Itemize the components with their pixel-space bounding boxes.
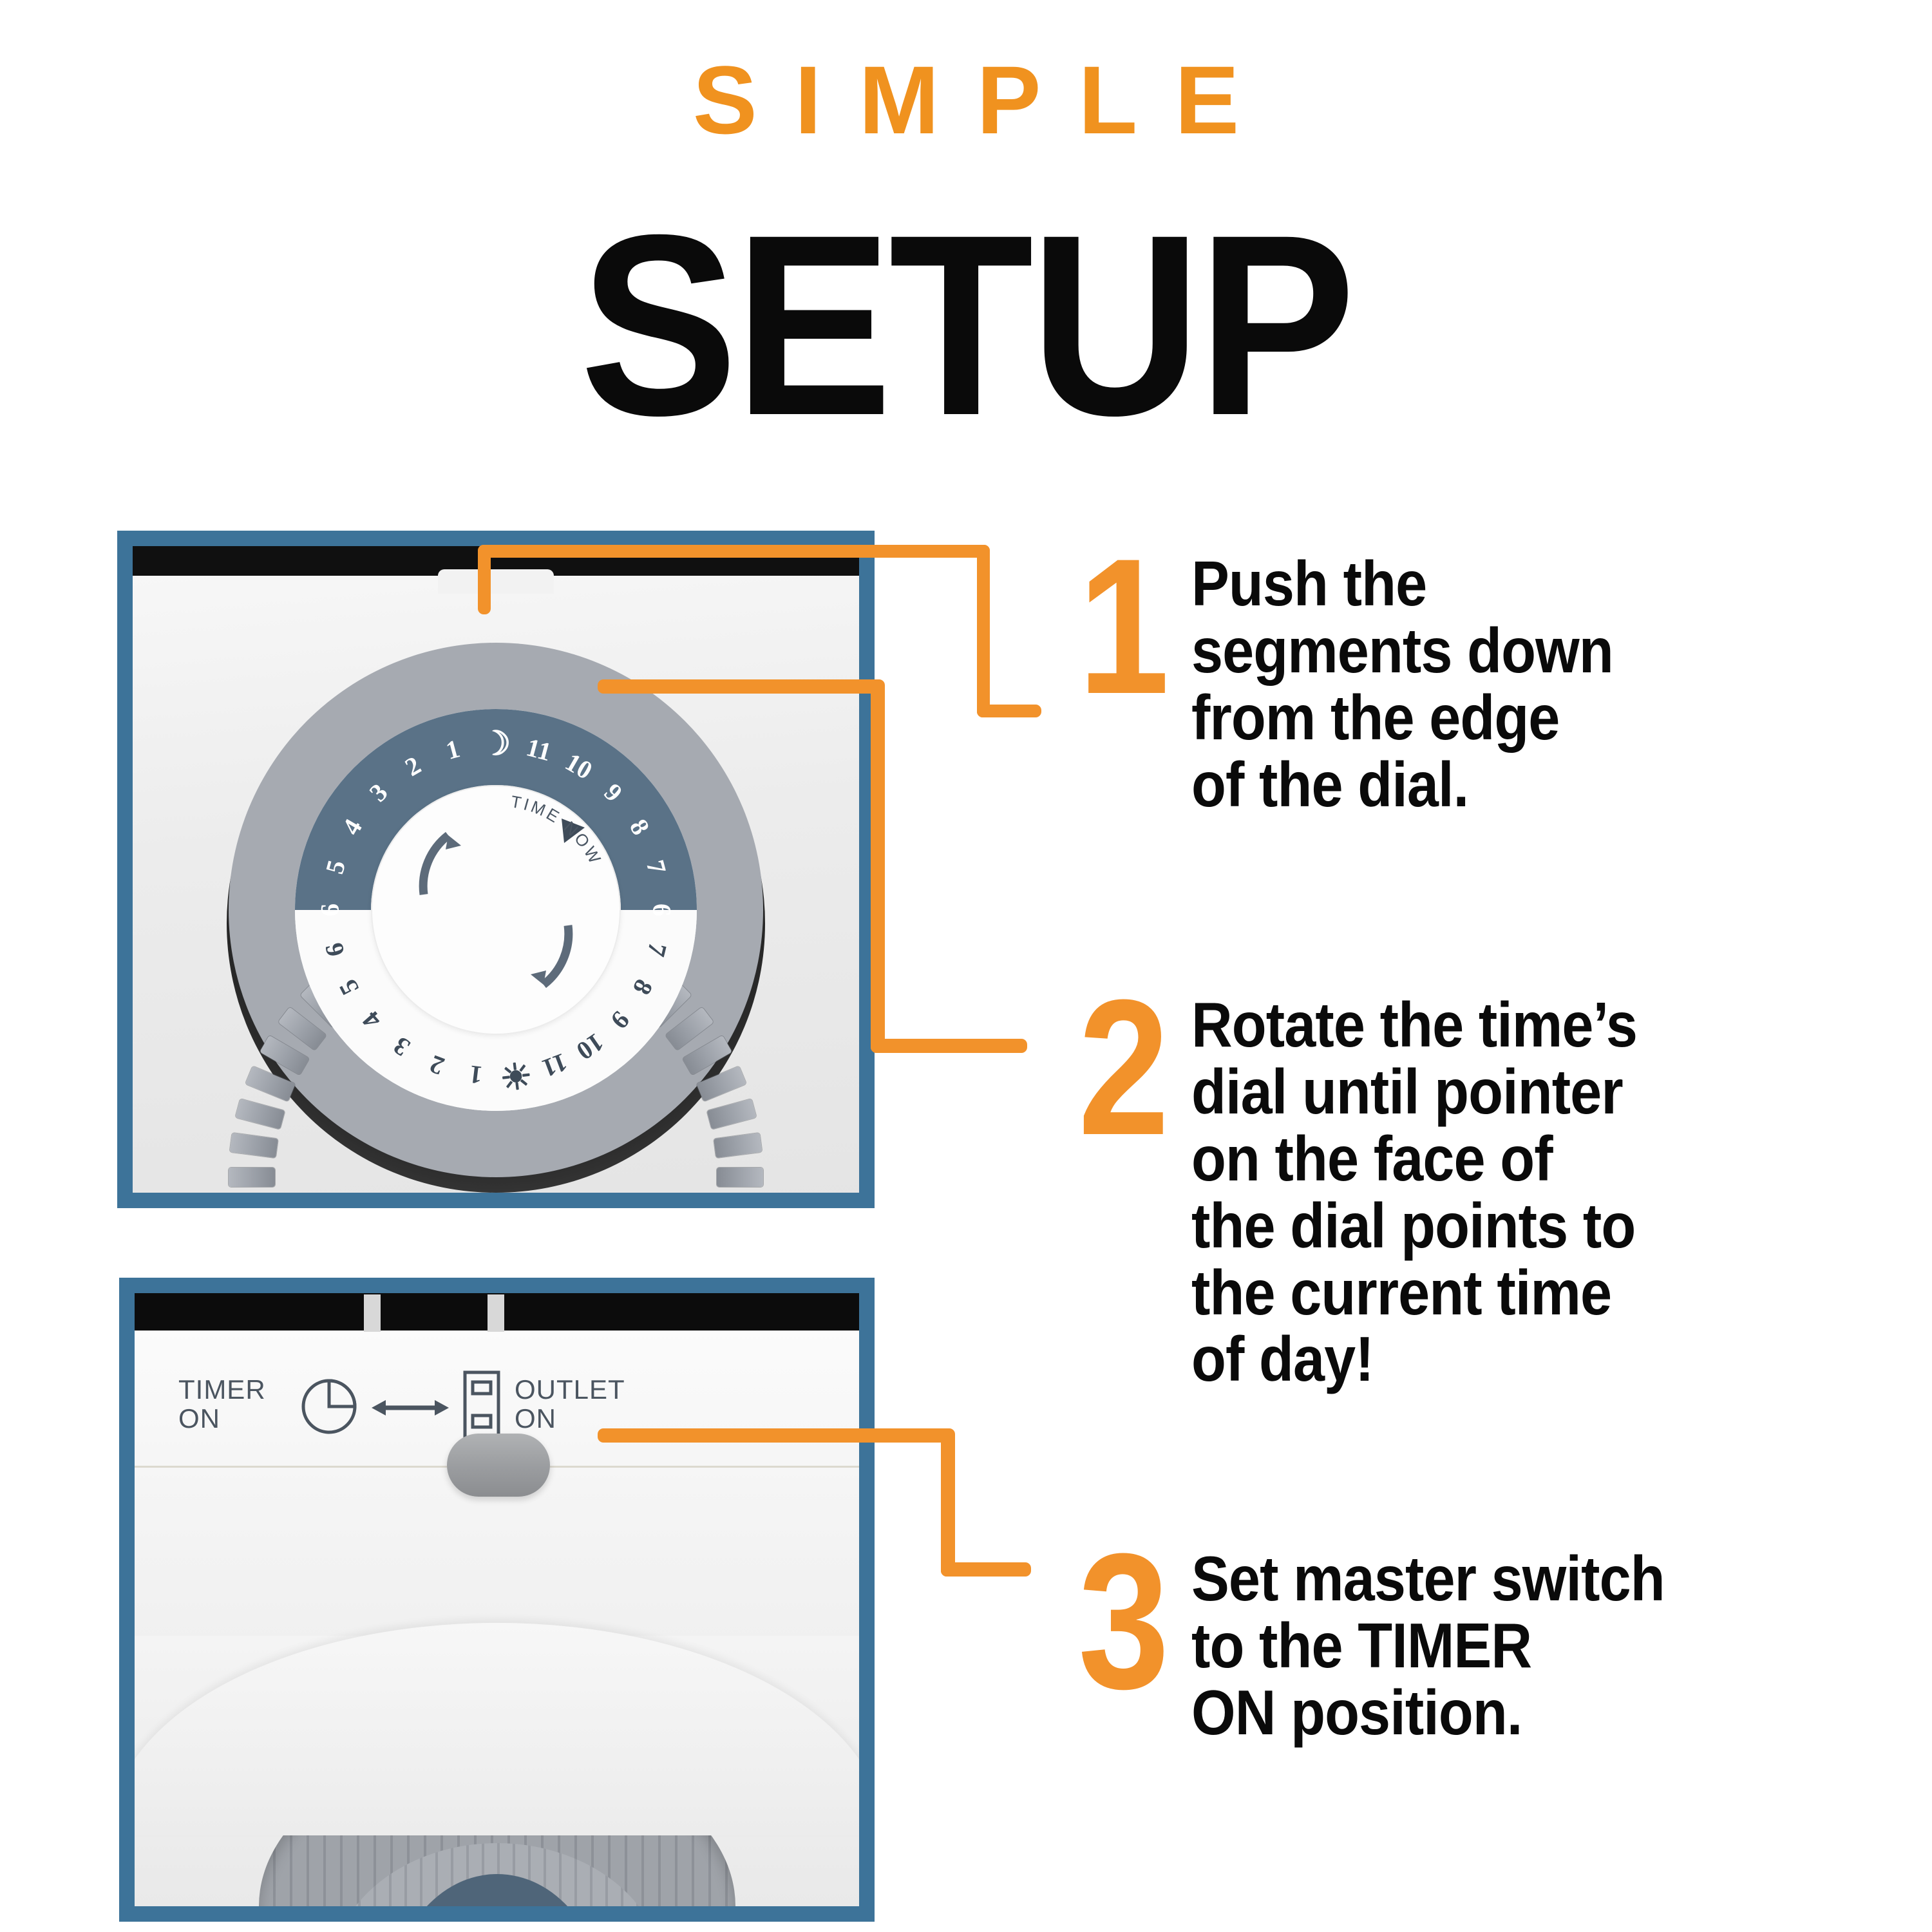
svg-text:TIME NOW: TIME NOW — [509, 791, 606, 869]
connector-3-horizontal-b — [941, 1562, 1031, 1577]
triangle-pointer-icon: TIME NOW — [371, 785, 621, 1035]
dial-hub[interactable]: TIME NOW TIME NOW — [371, 785, 621, 1035]
timer-clip-left — [364, 1294, 381, 1332]
photo-frame-switch: TIMER ON OUTLET ON 21☽1110 — [119, 1278, 875, 1922]
connector-2-horizontal-a — [598, 679, 884, 694]
header: SIMPLE SETUP — [0, 0, 1932, 444]
dial-hour-lower-11: 11 — [522, 1902, 551, 1906]
step-3-number: 3 — [1066, 1546, 1182, 1696]
step-2-number: 2 — [1066, 992, 1182, 1142]
photo-switch: TIMER ON OUTLET ON 21☽1110 — [135, 1293, 859, 1906]
photo-dial: 654321☽111098767891011☀123456 TIME NOW T… — [133, 546, 859, 1193]
moon-icon: ☽ — [481, 724, 511, 763]
connector-2-vertical — [871, 679, 885, 1053]
connector-3-horizontal-a — [598, 1428, 954, 1443]
moon-icon-lower: ☽ — [488, 1902, 509, 1906]
dial-hour-6: 6 — [647, 904, 677, 916]
connector-1-stub — [977, 705, 1041, 717]
timer-lower-housing: 21☽1110 — [135, 1636, 859, 1906]
connector-3-vertical — [941, 1428, 955, 1577]
dial-hour-6: 6 — [315, 904, 345, 916]
dial-face[interactable]: 654321☽111098767891011☀123456 TIME NOW T… — [295, 709, 697, 1111]
photo-frame-dial: 654321☽111098767891011☀123456 TIME NOW T… — [117, 531, 875, 1208]
step-1-text: Push the segments down from the edge of … — [1191, 551, 1613, 819]
sun-icon: ☀ — [497, 1052, 535, 1098]
step-1-number: 1 — [1066, 551, 1182, 701]
housing-hood — [135, 1623, 859, 1835]
outlet-icon — [462, 1369, 502, 1441]
step-1: 1 Push the segments down from the edge o… — [1056, 551, 1660, 819]
step-3: 3 Set master switch to the TIMER ON posi… — [1056, 1546, 1717, 1747]
page-title: SETUP — [77, 196, 1855, 454]
connector-2-horizontal-b — [871, 1039, 1027, 1053]
double-arrow-icon — [370, 1395, 450, 1421]
timer-on-label: TIMER ON — [178, 1376, 266, 1433]
step-2: 2 Rotate the time’s dial until pointer o… — [1056, 992, 1687, 1393]
clock-pie-icon — [299, 1377, 359, 1436]
dial-segment-cap[interactable] — [717, 1168, 763, 1187]
dial-segment-cap[interactable] — [229, 1168, 275, 1187]
dial-hour-lower-1: 1 — [446, 1903, 465, 1906]
connector-1-vertical-b — [977, 545, 990, 717]
outlet-on-label: OUTLET ON — [515, 1376, 625, 1433]
master-switch-knob[interactable] — [447, 1434, 550, 1497]
connector-1-horizontal — [478, 545, 990, 558]
kicker-title: SIMPLE — [0, 52, 1932, 148]
timer-clip-right — [488, 1294, 504, 1332]
step-2-text: Rotate the time’s dial until pointer on … — [1191, 992, 1637, 1393]
timer-tab — [438, 569, 554, 594]
step-3-text: Set master switch to the TIMER ON positi… — [1191, 1546, 1665, 1747]
